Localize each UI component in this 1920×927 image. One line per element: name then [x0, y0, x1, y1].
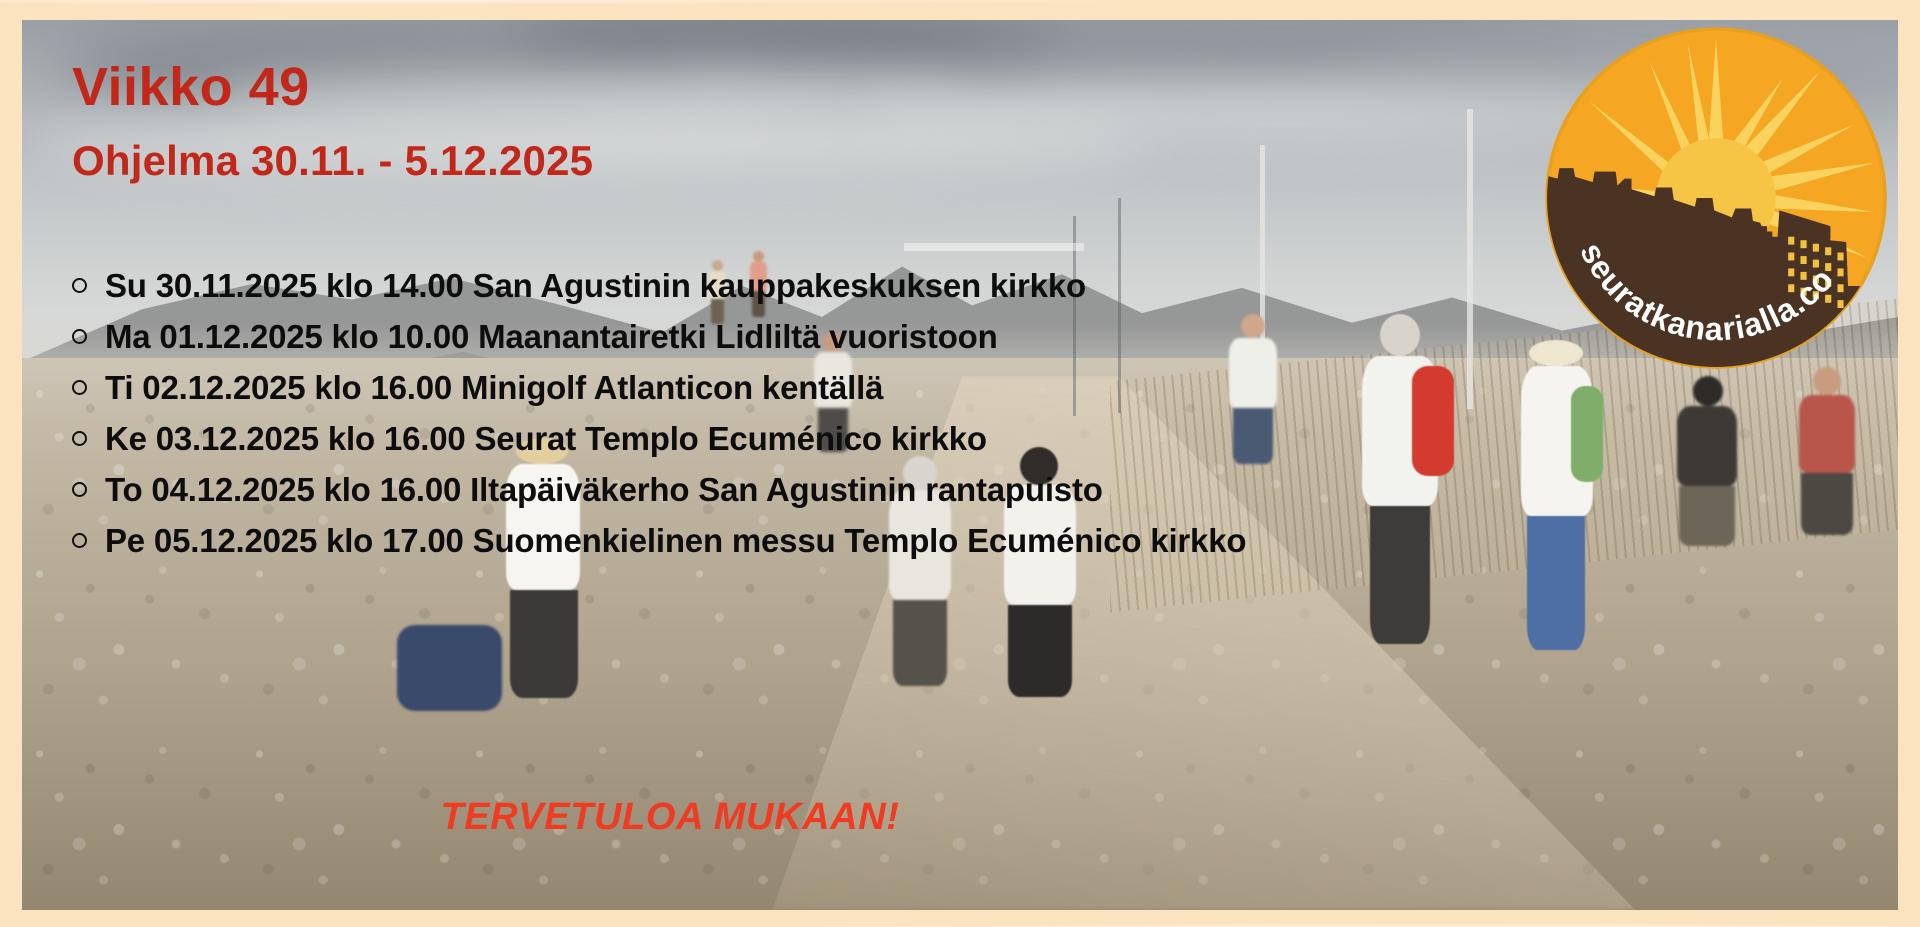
schedule-list: Su 30.11.2025 klo 14.00 San Agustinin ka…	[72, 260, 1492, 566]
list-item: To 04.12.2025 klo 16.00 Iltapäiväkerho S…	[72, 464, 1492, 515]
list-item-label: Ti 02.12.2025 klo 16.00 Minigolf Atlanti…	[105, 369, 883, 407]
list-item-label: Pe 05.12.2025 klo 17.00 Suomenkielinen m…	[105, 522, 1246, 560]
list-item: Pe 05.12.2025 klo 17.00 Suomenkielinen m…	[72, 515, 1492, 566]
welcome-message: TERVETULOA MUKAAN!	[0, 796, 1340, 839]
list-item-label: Ke 03.12.2025 klo 16.00 Seurat Templo Ec…	[105, 420, 987, 458]
poster: Viikko 49 Ohjelma 30.11. - 5.12.2025 Su …	[0, 0, 1920, 927]
circle-bullet-icon	[72, 482, 87, 497]
list-item: Ke 03.12.2025 klo 16.00 Seurat Templo Ec…	[72, 413, 1492, 464]
circle-bullet-icon	[72, 533, 87, 548]
page-subtitle: Ohjelma 30.11. - 5.12.2025	[72, 140, 593, 182]
page-title: Viikko 49	[72, 60, 310, 114]
list-item: Su 30.11.2025 klo 14.00 San Agustinin ka…	[72, 260, 1492, 311]
circle-bullet-icon	[72, 431, 87, 446]
list-item: Ti 02.12.2025 klo 16.00 Minigolf Atlanti…	[72, 362, 1492, 413]
list-item-label: Ma 01.12.2025 klo 10.00 Maanantairetki L…	[105, 318, 998, 356]
circle-bullet-icon	[72, 380, 87, 395]
logo-badge-icon: seuratkanarialla.com	[1540, 22, 1892, 374]
circle-bullet-icon	[72, 329, 87, 344]
list-item-label: To 04.12.2025 klo 16.00 Iltapäiväkerho S…	[105, 471, 1103, 509]
circle-bullet-icon	[72, 278, 87, 293]
seuratkanarialla-logo[interactable]: seuratkanarialla.com	[1540, 22, 1892, 374]
list-item-label: Su 30.11.2025 klo 14.00 San Agustinin ka…	[105, 267, 1086, 305]
list-item: Ma 01.12.2025 klo 10.00 Maanantairetki L…	[72, 311, 1492, 362]
